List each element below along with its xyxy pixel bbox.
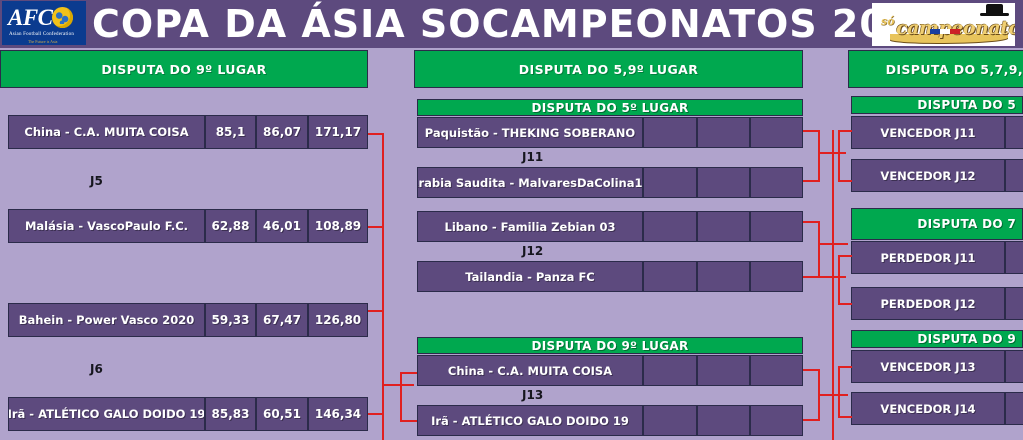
group-header-5th: DISPUTA DO 5º LUGAR <box>417 99 803 116</box>
score-cell: 60,51 <box>256 397 308 431</box>
connector-line <box>803 419 820 421</box>
total-cell <box>750 261 803 292</box>
group-header-9th-right: DISPUTA DO 9 <box>851 330 1023 348</box>
connector-line <box>838 255 840 305</box>
group-header-7th-right: DISPUTA DO 7 <box>851 208 1023 240</box>
score-cell <box>1005 159 1023 192</box>
section-band-5-9th: DISPUTA DO 5,9º LUGAR <box>414 50 803 88</box>
score-cell: 85,83 <box>205 397 256 431</box>
table-row[interactable]: PERDEDOR J12 <box>851 287 1005 320</box>
table-row[interactable]: PERDEDOR J11 <box>851 241 1005 274</box>
score-cell: 46,01 <box>256 209 308 243</box>
so-campeonatos-logo: só campeonatos <box>872 3 1015 46</box>
table-row[interactable]: VENCEDOR J11 <box>851 116 1005 149</box>
total-cell <box>750 355 803 386</box>
connector-line <box>400 372 417 374</box>
connector-line <box>838 130 840 182</box>
table-row[interactable]: VENCEDOR J14 <box>851 392 1005 425</box>
score-cell <box>1005 287 1023 320</box>
score-cell <box>643 211 697 242</box>
table-row[interactable]: VENCEDOR J12 <box>851 159 1005 192</box>
table-row[interactable]: Arabia Saudita - MalvaresDaColina10 <box>417 167 643 198</box>
connector-line <box>400 420 417 422</box>
table-row[interactable]: VENCEDOR J13 <box>851 350 1005 383</box>
score-cell <box>697 405 750 436</box>
score-cell <box>697 355 750 386</box>
score-cell: 62,88 <box>205 209 256 243</box>
connector-line <box>382 384 414 386</box>
connector-line <box>818 130 820 182</box>
connector-line <box>803 180 820 182</box>
total-cell: 126,80 <box>308 303 368 337</box>
bracket-page: AFC Asian Football Confederation The Fut… <box>0 0 1023 440</box>
connector-line <box>818 221 820 278</box>
total-cell <box>750 405 803 436</box>
connector-line <box>838 416 852 418</box>
logo-main-text: campeonatos <box>896 17 1015 39</box>
score-cell <box>643 355 697 386</box>
score-cell <box>643 117 697 148</box>
score-cell <box>697 261 750 292</box>
match-code-j12: J12 <box>522 244 543 258</box>
match-code-j5: J5 <box>90 174 103 188</box>
total-cell: 146,34 <box>308 397 368 431</box>
group-header-9th: DISPUTA DO 9º LUGAR <box>417 337 803 354</box>
afc-logo: AFC Asian Football Confederation The Fut… <box>2 1 86 45</box>
total-cell <box>750 167 803 198</box>
total-cell: 108,89 <box>308 209 368 243</box>
table-row[interactable]: Paquistão - THEKING SOBERANO <box>417 117 643 148</box>
score-cell <box>697 167 750 198</box>
connector-line <box>838 366 852 368</box>
match-code-j13: J13 <box>522 388 543 402</box>
table-row[interactable]: Libano - Familia Zebian 03 <box>417 211 643 242</box>
flag-icon <box>930 29 960 34</box>
match-code-j6: J6 <box>90 362 103 376</box>
connector-line <box>838 180 852 182</box>
section-band-9th: DISPUTA DO 9º LUGAR <box>0 50 368 88</box>
connector-line <box>838 366 840 418</box>
title-bar: AFC Asian Football Confederation The Fut… <box>0 0 1023 48</box>
score-cell <box>643 167 697 198</box>
match-code-j11: J11 <box>522 150 543 164</box>
table-row[interactable]: Bahein - Power Vasco 2020 <box>8 303 205 337</box>
score-cell <box>1005 116 1023 149</box>
score-cell <box>697 117 750 148</box>
group-header-5th-right: DISPUTA DO 5 <box>851 96 1023 114</box>
section-band-5-7-9th: DISPUTA DO 5,7,9, <box>848 50 1023 88</box>
afc-logo-subtitle: Asian Football Confederation <box>9 32 74 37</box>
score-cell <box>1005 350 1023 383</box>
globe-icon <box>52 7 73 28</box>
table-row[interactable]: Irã - ATLÉTICO GALO DOIDO 19 <box>417 405 643 436</box>
table-row[interactable]: Malásia - VascoPaulo F.C. <box>8 209 205 243</box>
connector-line <box>838 303 852 305</box>
table-row[interactable]: China - C.A. MUITA COISA <box>8 115 205 149</box>
afc-logo-tagline: The Future is Asia <box>28 39 57 44</box>
connector-spine <box>382 133 384 440</box>
score-cell <box>643 405 697 436</box>
total-cell <box>750 211 803 242</box>
score-cell <box>1005 392 1023 425</box>
score-cell <box>643 261 697 292</box>
score-cell: 85,1 <box>205 115 256 149</box>
table-row[interactable]: Irã - ATLÉTICO GALO DOIDO 19 <box>8 397 205 431</box>
score-cell <box>1005 241 1023 274</box>
connector-line <box>838 130 852 132</box>
connector-line <box>400 372 402 422</box>
afc-logo-abbr: AFC <box>8 6 53 29</box>
total-cell <box>750 117 803 148</box>
table-row[interactable]: China - C.A. MUITA COISA <box>417 355 643 386</box>
table-row[interactable]: Tailandia - Panza FC <box>417 261 643 292</box>
score-cell: 86,07 <box>256 115 308 149</box>
logo-small-text: só <box>881 15 895 28</box>
score-cell: 59,33 <box>205 303 256 337</box>
connector-line <box>818 243 848 245</box>
score-cell: 67,47 <box>256 303 308 337</box>
connector-line <box>838 255 852 257</box>
score-cell <box>697 211 750 242</box>
top-hat-icon <box>986 4 1003 15</box>
total-cell: 171,17 <box>308 115 368 149</box>
page-title: COPA DA ÁSIA SOCAMPEONATOS 2020 <box>92 0 942 48</box>
connector-line <box>818 394 848 396</box>
